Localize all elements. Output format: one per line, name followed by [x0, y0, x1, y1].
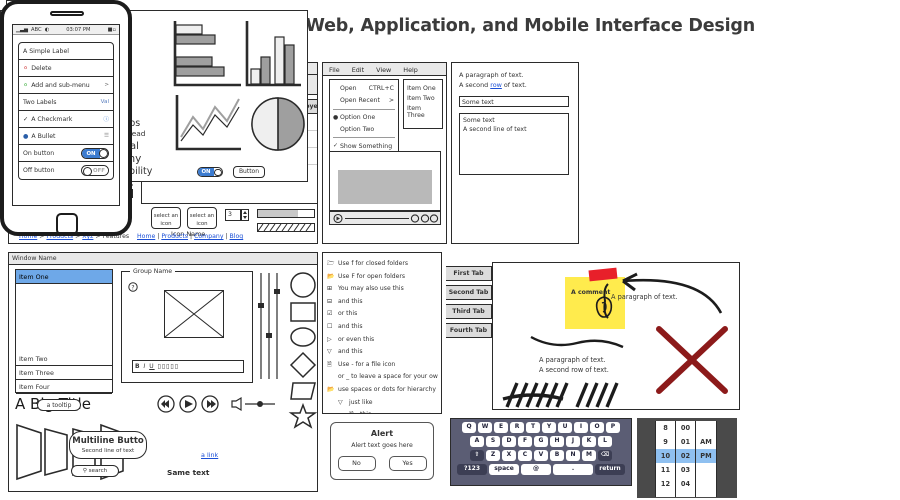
tree-row[interactable]: or _ to leave a space for your ow	[327, 371, 442, 384]
triangle-down-icon[interactable]: ▽	[338, 397, 349, 410]
file-icon: 🗎	[349, 409, 360, 414]
shift-icon[interactable]: ⇧	[470, 450, 484, 461]
alert-dialog[interactable]: Alert Alert text goes here No Yes	[330, 422, 434, 480]
toolbar-extra-icons[interactable]: ▯▯▯▯▯	[158, 363, 180, 370]
tree-row-label: this	[360, 409, 371, 414]
status-bar: ▁▃▅ ABC ◐ 03:07 PM ■▫	[13, 25, 119, 35]
key-t[interactable]: T	[526, 422, 540, 433]
list-box[interactable]: Item One Item Two Item Three	[403, 79, 443, 129]
icon-picker-2[interactable]: select an icon	[187, 207, 217, 229]
annotation-line-2: A second row of text.	[539, 365, 609, 375]
phone-item-delete[interactable]: ⚪ Delete	[19, 60, 113, 77]
key-h[interactable]: H	[550, 436, 564, 447]
minute-option[interactable]: 03	[676, 463, 695, 477]
menu-item-label: Option One	[340, 114, 375, 121]
submenu-chevron-icon: >	[389, 97, 394, 104]
vertical-bar-chart	[243, 19, 303, 89]
hour-option[interactable]: 8	[656, 421, 675, 435]
time-picker-wheels[interactable]: 8 9 10 11 12 00 01 02 03 04 AM PM	[655, 421, 717, 497]
battery-icon: ■▫	[108, 27, 116, 33]
help-icon[interactable]: ?	[128, 282, 138, 292]
menu-item-shortcut: CTRL+C	[369, 85, 394, 92]
generic-button[interactable]: Button	[233, 166, 265, 178]
key-m[interactable]: M	[582, 450, 596, 461]
tree-row-label: just like	[349, 397, 373, 410]
svg-text:?: ?	[131, 284, 134, 291]
paragraph-line-1: A paragraph of text.	[459, 71, 527, 81]
window-title: Window Name	[9, 253, 317, 265]
home-button[interactable]	[56, 213, 78, 235]
paragraph-line-2: A second row of text.	[459, 81, 527, 91]
key-p[interactable]: P	[606, 422, 620, 433]
search-button[interactable]: ⚲ search	[71, 465, 119, 477]
toggle-on-label: ON	[198, 168, 214, 176]
key-f[interactable]: F	[518, 436, 532, 447]
rich-text-toolbar[interactable]: B I U ▯▯▯▯▯	[132, 360, 244, 373]
meridiem-am[interactable]: AM	[696, 435, 716, 449]
phone-item-label: Two Labels	[23, 99, 56, 106]
stepper-input[interactable]: 3	[225, 209, 241, 221]
image-placeholder-icon	[164, 290, 224, 338]
nav-blog[interactable]: Blog	[230, 233, 244, 240]
tree-row-label: use spaces or dots for hierarchy	[338, 384, 436, 397]
keyboard-row-2[interactable]: A S D F G H J K L	[451, 436, 631, 447]
key-w[interactable]: W	[478, 422, 492, 433]
meridiem-blank	[696, 477, 716, 491]
list-empty-space	[16, 284, 112, 352]
phone-item-bullet[interactable]: ● A Bullet ☰	[19, 128, 113, 145]
phone-item-label: A Bullet	[31, 133, 55, 140]
media-controls[interactable]	[157, 395, 223, 413]
hour-option[interactable]: 9	[656, 435, 675, 449]
tree-row[interactable]: ⊟and this	[327, 296, 442, 309]
phone-item-off-button[interactable]: Off button OFF	[19, 162, 113, 179]
dot-key[interactable]: .	[553, 464, 593, 475]
time-picker[interactable]: 8 9 10 11 12 00 01 02 03 04 AM PM	[637, 418, 737, 498]
annotation-paragraph: A paragraph of text. A second row of tex…	[539, 355, 609, 375]
tree-row[interactable]: 🗁Use f for closed folders	[327, 258, 442, 271]
menu-item-label: Open	[340, 85, 357, 92]
folder-open-icon: 📂	[327, 271, 338, 284]
return-key[interactable]: return	[595, 464, 625, 475]
list-item[interactable]: Item One	[406, 83, 440, 93]
list-widget[interactable]: Item One Item Two Item Three Item Four	[15, 269, 113, 393]
folder-closed-icon: 🗁	[327, 258, 338, 271]
mobile-keyboard[interactable]: Q W E R T Y U I O P A S D F G H J K L ⇧ …	[450, 418, 632, 486]
phone-item-two-labels[interactable]: Two Labels Val	[19, 94, 113, 111]
italic-icon[interactable]: I	[144, 363, 147, 370]
phone-item-label: Off button	[23, 167, 55, 174]
minute-option-selected[interactable]: 02	[676, 449, 695, 463]
list-item-three[interactable]: Item Three	[16, 366, 112, 380]
list-item-four[interactable]: Item Four	[16, 380, 112, 394]
keyboard-row-3[interactable]: ⇧ Z X C V B N M ⌫	[451, 450, 631, 461]
key-s[interactable]: S	[486, 436, 500, 447]
underline-icon[interactable]: U	[149, 363, 154, 370]
multiline-button[interactable]: Multiline Butto Second line of text	[69, 431, 147, 459]
triangle-right-icon[interactable]: ▷	[327, 334, 338, 347]
list-item-two[interactable]: Item Two	[16, 352, 112, 366]
tree-row[interactable]: ▽and this	[327, 346, 442, 359]
menu-file[interactable]: File	[323, 63, 346, 75]
video-placeholder	[329, 151, 441, 211]
on-toggle[interactable]: ON	[197, 167, 223, 177]
progress-bar-striped	[257, 223, 315, 232]
tree-list-panel: 🗁Use f for closed folders 📂Use F for ope…	[322, 252, 442, 414]
scribble-icon	[503, 381, 623, 410]
tab-first[interactable]: First Tab	[446, 266, 492, 281]
icon-picker-1[interactable]: select an icon	[151, 207, 181, 229]
phone-item-label: A Simple Label	[23, 48, 69, 55]
key-x[interactable]: X	[502, 450, 516, 461]
phone-screen[interactable]: ▁▃▅ ABC ◐ 03:07 PM ■▫ A Simple Label ⚪ D…	[12, 24, 120, 206]
key-u[interactable]: U	[558, 422, 572, 433]
phone-item-label: Add and sub-menu	[31, 82, 90, 89]
menu-edit[interactable]: Edit	[346, 63, 370, 75]
phone-item-add-submenu[interactable]: ⚪ Add and sub-menu >	[19, 77, 113, 94]
stepper-arrows[interactable]	[241, 209, 249, 221]
alert-buttons[interactable]: No Yes	[331, 456, 433, 471]
minus-box-icon[interactable]: ⊟	[327, 296, 338, 309]
progress-bar	[257, 209, 315, 218]
text-mockup-panel: A paragraph of text. A second row of tex…	[451, 62, 579, 244]
hour-option[interactable]: 12	[656, 477, 675, 491]
key-n[interactable]: N	[566, 450, 580, 461]
wifi-icon: ◐	[45, 27, 50, 33]
minute-option[interactable]: 00	[676, 421, 695, 435]
hour-column[interactable]: 8 9 10 11 12	[656, 421, 676, 497]
checked-box-icon[interactable]: ☑	[327, 308, 338, 321]
vertical-tab-strip[interactable]: First Tab Second Tab Third Tab Fourth Ta…	[446, 266, 492, 342]
status-time: 03:07 PM	[52, 27, 104, 33]
key-e[interactable]: E	[494, 422, 508, 433]
key-y[interactable]: Y	[542, 422, 556, 433]
toggle-on-label: ON	[82, 149, 100, 158]
plus-box-icon[interactable]: ⊞	[327, 283, 338, 296]
line-chart	[173, 93, 245, 155]
folder-open-icon: 📂	[327, 384, 338, 397]
magnifier-icon: ⚲	[83, 468, 87, 474]
menu-item-open-recent[interactable]: Open Recent >	[330, 95, 398, 107]
phone-item-label: A Checkmark	[31, 116, 72, 123]
list-item[interactable]: Item Two	[406, 93, 440, 103]
tree-row[interactable]: 🗎this	[327, 409, 442, 414]
hour-option-selected[interactable]: 10	[656, 449, 675, 463]
at-key[interactable]: @	[521, 464, 551, 475]
a-link[interactable]: a link	[201, 451, 218, 459]
menu-item-option-two[interactable]: Option Two	[330, 123, 398, 135]
keyboard-row-1[interactable]: Q W E R T Y U I O P	[451, 422, 631, 433]
group-name-label: Group Name	[130, 268, 175, 275]
phone-item-checkmark[interactable]: ✓ A Checkmark ⓘ	[19, 111, 113, 128]
numeric-key[interactable]: ?123	[457, 464, 487, 475]
nav-products[interactable]: Products	[161, 233, 188, 240]
key-d[interactable]: D	[502, 436, 516, 447]
tree-row[interactable]: ⊞You may also use this	[327, 283, 442, 296]
toggle-knob[interactable]	[214, 169, 222, 177]
phone-item-value: Val	[101, 99, 109, 105]
menu-item-label: Option Two	[340, 126, 374, 133]
toggle-knob[interactable]	[99, 149, 108, 158]
menu-separator	[333, 137, 395, 138]
tree-row[interactable]: ▷or even this	[327, 334, 442, 347]
inline-link[interactable]: row	[490, 81, 502, 89]
menu-item-open[interactable]: Open CTRL+C	[330, 83, 398, 95]
menu-separator	[333, 109, 395, 110]
space-key[interactable]: space	[489, 464, 519, 475]
key-q[interactable]: Q	[462, 422, 476, 433]
key-a[interactable]: A	[470, 436, 484, 447]
tab-third[interactable]: Third Tab	[446, 304, 492, 319]
meridiem-blank	[696, 421, 716, 435]
signal-bars-icon: ▁▃▅	[16, 27, 28, 33]
group-box: Group Name ? B I U ▯▯▯▯▯	[121, 271, 253, 383]
list-item-one[interactable]: Item One	[16, 270, 112, 284]
key-i[interactable]: I	[574, 422, 588, 433]
nav-company[interactable]: Company	[194, 233, 223, 240]
tree-row[interactable]: 📂use spaces or dots for hierarchy	[327, 384, 442, 397]
textarea[interactable]: Some text A second line of text	[459, 113, 569, 175]
phone-speaker	[50, 11, 84, 16]
menu-help[interactable]: Help	[397, 63, 424, 75]
tree-row-label: Use f for closed folders	[338, 258, 408, 271]
annotation-panel: A comment A paragraph of text. A second …	[492, 262, 740, 410]
carrier-label: ABC	[31, 27, 42, 33]
paragraph-text: of text.	[502, 81, 527, 89]
annotation-line-1: A paragraph of text.	[539, 355, 609, 365]
text-input[interactable]: Some text	[459, 96, 569, 107]
checkmark-icon: ✓	[333, 142, 338, 149]
key-r[interactable]: R	[510, 422, 524, 433]
yes-button[interactable]: Yes	[389, 456, 427, 471]
menu-view[interactable]: View	[370, 63, 397, 75]
empty-box-icon[interactable]: ☐	[327, 321, 338, 334]
nav-home[interactable]: Home	[137, 233, 155, 240]
minute-column[interactable]: 00 01 02 03 04	[676, 421, 696, 497]
menu-item-label: Show Something	[340, 143, 392, 150]
tree-row-label: Use F for open folders	[338, 271, 405, 284]
alert-title: Alert	[331, 429, 433, 438]
alert-message: Alert text goes here	[331, 442, 433, 449]
key-l[interactable]: L	[598, 436, 612, 447]
menu-mockup-panel: File Edit View Help Open CTRL+C Open Rec…	[322, 62, 447, 244]
tree-row-label: and this	[338, 296, 363, 309]
volume-slider[interactable]	[231, 397, 279, 411]
radio-on-icon: ●	[333, 114, 338, 121]
tab-fourth[interactable]: Fourth Tab	[446, 323, 492, 338]
tree-row-label: You may also use this	[338, 283, 404, 296]
off-toggle[interactable]: OFF	[81, 165, 109, 176]
minute-option[interactable]: 01	[676, 435, 695, 449]
same-text-label: Same text	[167, 469, 209, 478]
brace-icon	[529, 335, 625, 351]
meridiem-blank	[696, 463, 716, 477]
delete-circle-icon: ⚪	[23, 65, 28, 72]
key-o[interactable]: O	[590, 422, 604, 433]
key-b[interactable]: B	[550, 450, 564, 461]
tree-row-label: or even this	[338, 334, 374, 347]
paragraph-text: A second	[459, 81, 490, 89]
tree-row-label: and this	[338, 321, 363, 334]
chevron-right-icon: >	[104, 82, 109, 88]
keyboard-row-4[interactable]: ?123 space @ . return	[451, 464, 631, 475]
key-c[interactable]: C	[518, 450, 532, 461]
desktop-window-panel: Window Name Item One Item Two Item Three…	[8, 252, 318, 492]
no-button[interactable]: No	[338, 456, 376, 471]
grip-icon[interactable]: ☰	[104, 133, 109, 139]
video-controls[interactable]	[329, 211, 441, 225]
shape-gallery	[289, 271, 317, 431]
add-circle-icon: ⚪	[23, 82, 28, 89]
tree-row-label: and this	[338, 346, 363, 359]
key-j[interactable]: J	[566, 436, 580, 447]
poster-root: Components for Web, Application, and Mob…	[0, 0, 900, 500]
video-image-area	[338, 170, 432, 204]
paragraph-block: A paragraph of text. A second row of tex…	[459, 71, 527, 90]
curly-brace-icon	[601, 283, 611, 319]
phone-item-simple-label[interactable]: A Simple Label	[19, 43, 113, 60]
phone-list[interactable]: A Simple Label ⚪ Delete ⚪ Add and sub-me…	[18, 42, 114, 180]
phone-item-label: On button	[23, 150, 54, 157]
tree-row[interactable]: ☐and this	[327, 321, 442, 334]
textarea-line-2: A second line of text	[463, 126, 565, 135]
file-icon: 🗎	[327, 359, 338, 372]
tree-row[interactable]: ▽just like	[327, 397, 442, 410]
vertical-sliders[interactable]	[257, 273, 281, 379]
menu-item-option-one[interactable]: ● Option One	[330, 112, 398, 124]
red-cross-icon	[653, 323, 731, 397]
key-z[interactable]: Z	[486, 450, 500, 461]
toggle-knob[interactable]	[83, 167, 92, 176]
key-g[interactable]: G	[534, 436, 548, 447]
list-item[interactable]: Item Three	[406, 103, 440, 120]
multiline-button-line2: Second line of text	[70, 448, 146, 454]
multiline-button-line1: Multiline Butto	[70, 436, 146, 446]
hour-option[interactable]: 11	[656, 463, 675, 477]
progress-fill	[258, 210, 298, 217]
textarea-line-1: Some text	[463, 117, 565, 126]
tree-row[interactable]: 🗎Use - for a file icon	[327, 359, 442, 372]
checkmark-icon: ✓	[23, 116, 28, 123]
tab-second[interactable]: Second Tab	[446, 285, 492, 300]
phone-body: ▁▃▅ ABC ◐ 03:07 PM ■▫ A Simple Label ⚪ D…	[0, 0, 132, 236]
menu-bar[interactable]: File Edit View Help	[323, 63, 446, 76]
menu-item-label: Open Recent	[340, 97, 380, 104]
key-v[interactable]: V	[534, 450, 548, 461]
nav-links[interactable]: Home | Products | Company | Blog	[137, 233, 243, 240]
search-label: search	[89, 468, 108, 474]
bullet-icon: ●	[23, 133, 28, 140]
bold-icon[interactable]: B	[135, 363, 141, 370]
right-annotation-text: A paragraph of text.	[611, 293, 678, 301]
triangle-down-icon[interactable]: ▽	[327, 346, 338, 359]
tree-row-label: or _ to leave a space for your ow	[338, 371, 438, 384]
info-icon[interactable]: ⓘ	[103, 115, 109, 123]
pie-chart	[249, 95, 307, 153]
key-k[interactable]: K	[582, 436, 596, 447]
phone-item-on-button[interactable]: On button ON	[19, 145, 113, 162]
tooltip: a tooltip	[37, 399, 81, 411]
meridiem-column[interactable]: AM PM	[696, 421, 716, 497]
tree-row-label: Use - for a file icon	[338, 359, 395, 372]
tree-row[interactable]: 📂Use F for open folders	[327, 271, 442, 284]
tree-row-label: or this	[338, 308, 357, 321]
on-toggle[interactable]: ON	[81, 148, 109, 159]
meridiem-pm-selected[interactable]: PM	[696, 449, 716, 463]
minute-option[interactable]: 04	[676, 477, 695, 491]
toggle-off-label: OFF	[90, 166, 108, 175]
backspace-icon[interactable]: ⌫	[598, 450, 612, 461]
tree-list[interactable]: 🗁Use f for closed folders 📂Use F for ope…	[327, 258, 442, 414]
horizontal-bar-chart	[171, 19, 243, 89]
phone-item-label: Delete	[31, 65, 51, 72]
tree-row[interactable]: ☑or this	[327, 308, 442, 321]
